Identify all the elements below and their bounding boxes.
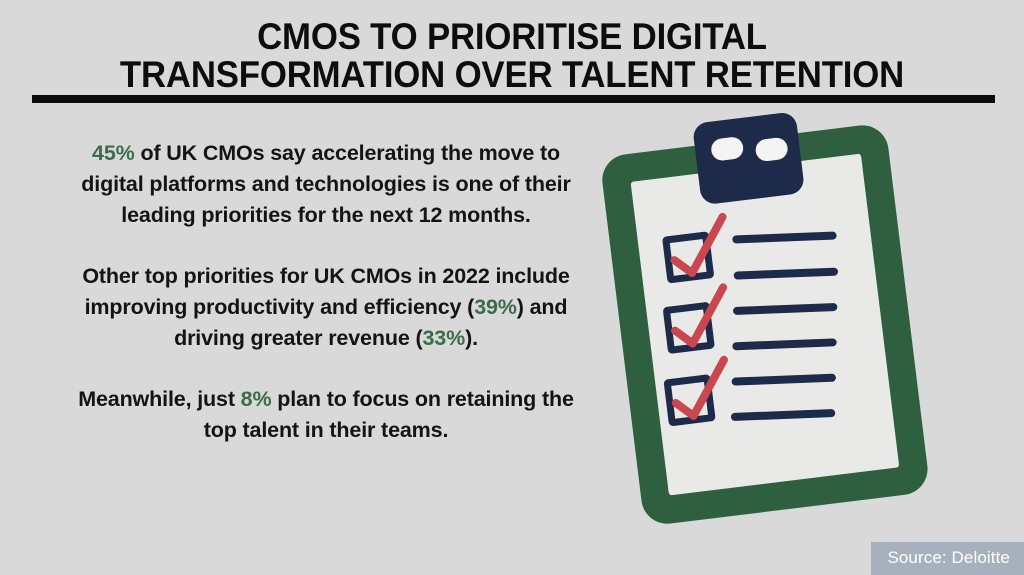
stat-33-percent: 33%: [422, 326, 465, 350]
paragraph-3-lead: Meanwhile, just: [78, 387, 240, 411]
stat-8-percent: 8%: [241, 387, 272, 411]
paragraph-2-tail: ).: [465, 326, 478, 350]
title-line-1: CMOS TO PRIORITISE DIGITAL: [31, 18, 994, 56]
paragraph-1-text: of UK CMOs say accelerating the move to …: [81, 141, 570, 227]
page-title: CMOS TO PRIORITISE DIGITAL TRANSFORMATIO…: [0, 18, 1024, 94]
clipboard-checklist-illustration: [600, 108, 940, 548]
title-underline-rule: [32, 95, 995, 103]
stat-39-percent: 39%: [474, 295, 517, 319]
paragraph-digital-priority: 45% of UK CMOs say accelerating the move…: [66, 138, 586, 231]
source-badge: Source: Deloitte: [871, 542, 1024, 575]
clipboard-clip: [692, 111, 805, 205]
title-line-2: TRANSFORMATION OVER TALENT RETENTION: [31, 56, 994, 94]
paragraph-talent-retention: Meanwhile, just 8% plan to focus on reta…: [66, 384, 586, 446]
body-copy-column: 45% of UK CMOs say accelerating the move…: [66, 138, 586, 446]
paragraph-other-priorities: Other top priorities for UK CMOs in 2022…: [66, 261, 586, 354]
stat-45-percent: 45%: [92, 141, 135, 165]
infographic-canvas: CMOS TO PRIORITISE DIGITAL TRANSFORMATIO…: [0, 0, 1024, 575]
